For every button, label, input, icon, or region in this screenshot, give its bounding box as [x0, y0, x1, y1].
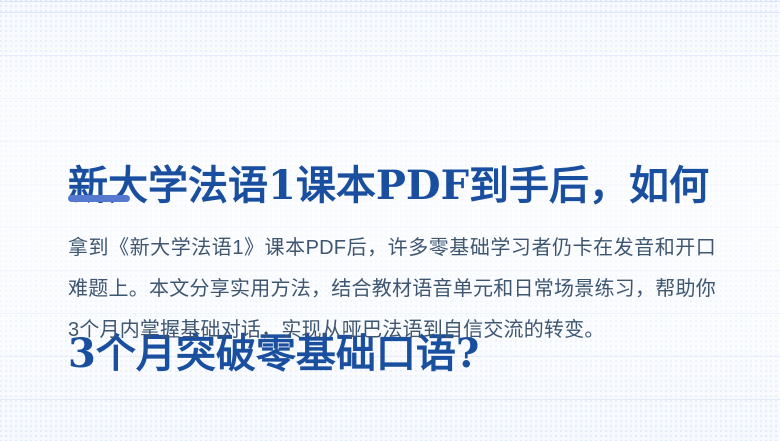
body-paragraph: 拿到《新大学法语1》课本PDF后，许多零基础学习者仍卡在发音和开口难题上。本文分…	[68, 228, 716, 351]
slide-canvas: 新大学法语1课本PDF到手后，如何 3个月突破零基础口语? 拿到《新大学法语1》…	[0, 0, 780, 441]
page-title-line-1: 新大学法语1课本PDF到手后，如何	[68, 158, 718, 214]
title-divider	[68, 195, 130, 202]
slide-content: 新大学法语1课本PDF到手后，如何 3个月突破零基础口语? 拿到《新大学法语1》…	[68, 0, 716, 441]
